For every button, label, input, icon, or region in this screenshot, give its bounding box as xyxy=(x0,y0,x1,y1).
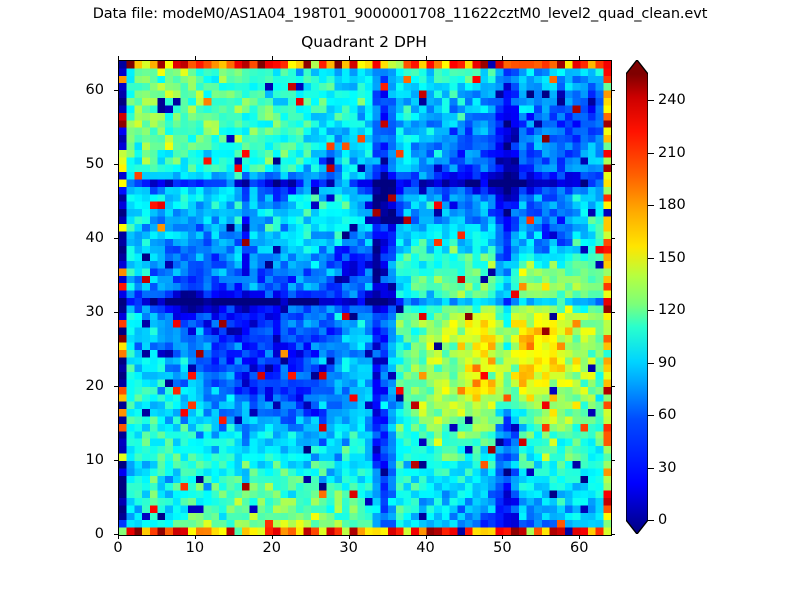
x-tick-label: 10 xyxy=(186,540,204,556)
x-tick-mark-top xyxy=(502,56,503,60)
colorbar-tick-label: 90 xyxy=(658,355,676,371)
colorbar[interactable] xyxy=(626,60,648,534)
heatmap-axes[interactable] xyxy=(118,60,612,536)
x-tick-mark-top xyxy=(349,56,350,60)
x-tick-mark xyxy=(349,535,350,539)
colorbar-tick-label: 150 xyxy=(658,250,686,266)
y-tick-mark xyxy=(114,164,118,165)
figure-suptitle: Data file: modeM0/AS1A04_198T01_90000017… xyxy=(0,6,800,22)
x-tick-label: 20 xyxy=(263,540,281,556)
x-tick-mark xyxy=(118,535,119,539)
x-tick-mark xyxy=(426,535,427,539)
colorbar-tick-mark xyxy=(648,415,654,416)
y-tick-label: 10 xyxy=(0,452,104,468)
y-tick-label: 50 xyxy=(0,156,104,172)
colorbar-tick-label: 180 xyxy=(658,197,686,213)
x-tick-mark-top xyxy=(426,56,427,60)
y-tick-mark xyxy=(114,90,118,91)
x-tick-label: 60 xyxy=(570,540,588,556)
y-tick-mark-right xyxy=(611,90,615,91)
chart-title: Quadrant 2 DPH xyxy=(118,33,610,51)
colorbar-tick-label: 0 xyxy=(658,512,667,528)
heatmap-image[interactable] xyxy=(119,61,611,535)
x-tick-mark xyxy=(272,535,273,539)
y-tick-mark xyxy=(114,312,118,313)
x-tick-mark xyxy=(579,535,580,539)
x-tick-label: 30 xyxy=(339,540,357,556)
colorbar-tick-label: 210 xyxy=(658,145,686,161)
colorbar-tick-mark xyxy=(648,310,654,311)
x-tick-label: 50 xyxy=(493,540,511,556)
colorbar-tick-label: 120 xyxy=(658,302,686,318)
colorbar-tick-label: 30 xyxy=(658,460,676,476)
y-tick-mark xyxy=(114,534,118,535)
y-tick-mark-right xyxy=(611,460,615,461)
y-tick-mark-right xyxy=(611,238,615,239)
colorbar-tick-mark xyxy=(648,468,654,469)
colorbar-tick-mark xyxy=(648,205,654,206)
y-tick-mark-right xyxy=(611,386,615,387)
y-tick-label: 40 xyxy=(0,230,104,246)
colorbar-tick-mark xyxy=(648,258,654,259)
x-tick-mark-top xyxy=(272,56,273,60)
colorbar-tick-label: 60 xyxy=(658,407,676,423)
y-tick-mark xyxy=(114,386,118,387)
x-tick-label: 0 xyxy=(113,540,122,556)
x-tick-mark xyxy=(502,535,503,539)
y-tick-mark-right xyxy=(611,164,615,165)
y-tick-mark xyxy=(114,238,118,239)
y-tick-label: 30 xyxy=(0,304,104,320)
y-tick-label: 60 xyxy=(0,82,104,98)
colorbar-gradient xyxy=(626,60,648,534)
x-tick-mark-top xyxy=(195,56,196,60)
y-tick-mark-right xyxy=(611,312,615,313)
x-tick-mark-top xyxy=(118,56,119,60)
colorbar-tick-mark xyxy=(648,363,654,364)
colorbar-tick-mark xyxy=(648,520,654,521)
colorbar-tick-mark xyxy=(648,153,654,154)
y-tick-mark-right xyxy=(611,534,615,535)
x-tick-mark xyxy=(195,535,196,539)
figure-canvas: Data file: modeM0/AS1A04_198T01_90000017… xyxy=(0,0,800,600)
colorbar-tick-mark xyxy=(648,100,654,101)
y-tick-label: 0 xyxy=(0,526,104,542)
x-tick-mark-top xyxy=(579,56,580,60)
y-tick-label: 20 xyxy=(0,378,104,394)
y-tick-mark xyxy=(114,460,118,461)
colorbar-tick-label: 240 xyxy=(658,92,686,108)
x-tick-label: 40 xyxy=(416,540,434,556)
